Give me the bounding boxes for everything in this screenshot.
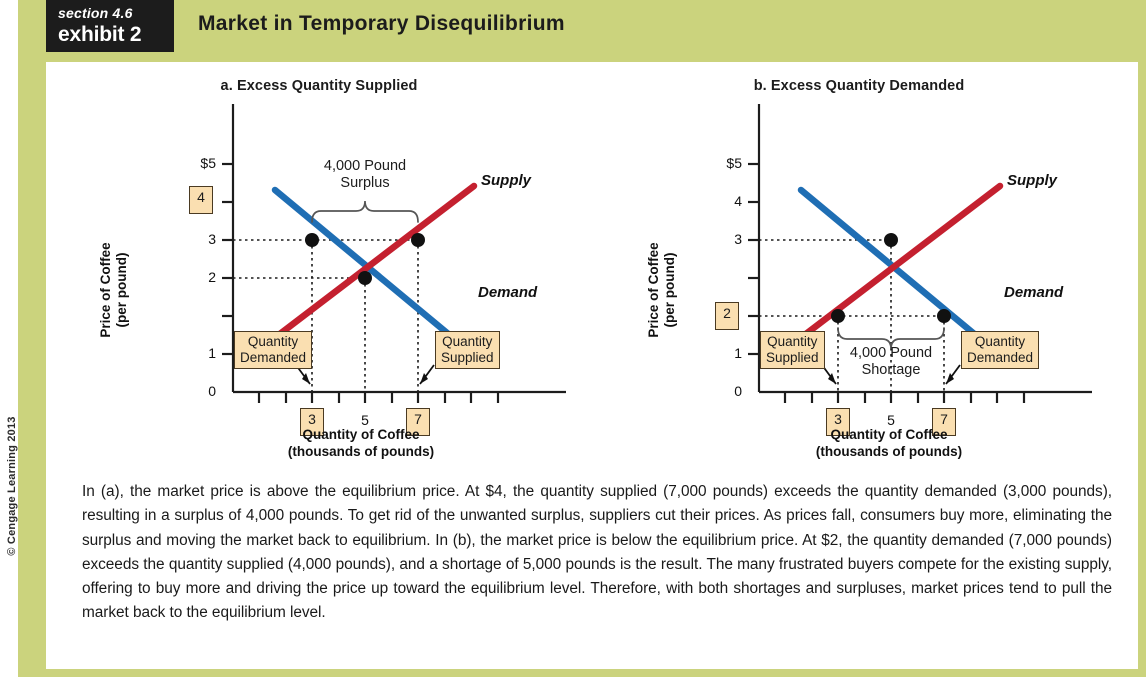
section-tab: section 4.6 exhibit 2	[46, 0, 174, 52]
panel-b-y-axis-line1: Price of Coffee	[646, 242, 661, 337]
panel-b-ytick-3: 3	[702, 231, 742, 247]
panel-b-ytick-1: 1	[702, 345, 742, 361]
panel-b-callout-left-line2: Supplied	[766, 350, 819, 365]
exhibit-label: exhibit 2	[58, 22, 174, 47]
copyright-rail: © Cengage Learning 2013	[0, 0, 18, 677]
panel-b-brace-line1: 4,000 Pound	[850, 345, 932, 361]
panel-b-callout-right: Quantity Demanded	[961, 331, 1039, 369]
panel-a-y-axis-line2: (per pound)	[114, 253, 129, 328]
panel-b-demand-label: Demand	[1004, 284, 1063, 301]
panel-b-x-axis-line2: (thousands of pounds)	[816, 444, 962, 459]
chart-panel-b: b. Excess Quantity Demanded	[586, 62, 1132, 472]
panel-a-demand-label: Demand	[478, 284, 537, 301]
panel-a-callout-left-line1: Quantity	[248, 334, 298, 349]
panel-b-ytick-0: 0	[702, 383, 742, 399]
panel-a-callout-left-line2: Demanded	[240, 350, 306, 365]
exhibit-content: a. Excess Quantity Supplied	[46, 62, 1138, 669]
panel-a-price-chip: 4	[189, 186, 213, 214]
panel-a-callout-right-line2: Supplied	[441, 350, 494, 365]
panel-a-ytick-2: 2	[176, 269, 216, 285]
page-title: Market in Temporary Disequilibrium	[198, 12, 565, 36]
panel-a-x-axis-line1: Quantity of Coffee	[303, 427, 420, 442]
panel-a-ytick-1: 1	[176, 345, 216, 361]
panel-a-callout-left: Quantity Demanded	[234, 331, 312, 369]
exhibit-frame: section 4.6 exhibit 2 Market in Temporar…	[18, 0, 1146, 677]
exhibit-header: section 4.6 exhibit 2 Market in Temporar…	[18, 0, 1146, 62]
section-label: section 4.6	[58, 5, 174, 22]
panel-b-supply-label: Supply	[1007, 172, 1057, 189]
panel-a-ytick-0: 0	[176, 383, 216, 399]
panel-a-brace-line2: Surplus	[340, 175, 389, 191]
panel-b-y-axis-title: Price of Coffee (per pound)	[646, 210, 678, 370]
chart-panel-a: a. Excess Quantity Supplied	[46, 62, 592, 472]
panel-a-x-axis-title: Quantity of Coffee (thousands of pounds)	[88, 426, 634, 460]
panel-b-callout-right-line2: Demanded	[967, 350, 1033, 365]
panel-a-brace-line1: 4,000 Pound	[324, 158, 406, 174]
panel-b-y-axis-line2: (per pound)	[662, 253, 677, 328]
panel-a-supply-label: Supply	[481, 172, 531, 189]
panel-a-x-axis-line2: (thousands of pounds)	[288, 444, 434, 459]
exhibit-caption: In (a), the market price is above the eq…	[82, 480, 1112, 626]
panel-b-callout-left-line1: Quantity	[767, 334, 817, 349]
panel-a-y-axis-title: Price of Coffee (per pound)	[98, 210, 130, 370]
panel-a-brace-label: 4,000 Pound Surplus	[282, 158, 448, 192]
panel-b-callout-right-line1: Quantity	[975, 334, 1025, 349]
panel-a-callout-right: Quantity Supplied	[435, 331, 500, 369]
panel-b-callout-left: Quantity Supplied	[760, 331, 825, 369]
copyright-notice: © Cengage Learning 2013	[6, 396, 18, 576]
panel-a-callout-right-line1: Quantity	[442, 334, 492, 349]
panel-b-x-axis-title: Quantity of Coffee (thousands of pounds)	[616, 426, 1138, 460]
panel-b-ytick-4: 4	[702, 193, 742, 209]
panel-b-price-chip: 2	[715, 302, 739, 330]
panel-a-ytick-3: 3	[176, 231, 216, 247]
panel-b-ytick-5: $5	[702, 155, 742, 171]
panel-b-brace-line2: Shortage	[862, 362, 921, 378]
panel-a-ytick-5: $5	[176, 155, 216, 171]
panel-b-brace-label: 4,000 Pound Shortage	[808, 345, 974, 379]
exhibit-figure: © Cengage Learning 2013 section 4.6 exhi…	[0, 0, 1146, 677]
panel-b-x-axis-line1: Quantity of Coffee	[831, 427, 948, 442]
panel-a-y-axis-line1: Price of Coffee	[98, 242, 113, 337]
